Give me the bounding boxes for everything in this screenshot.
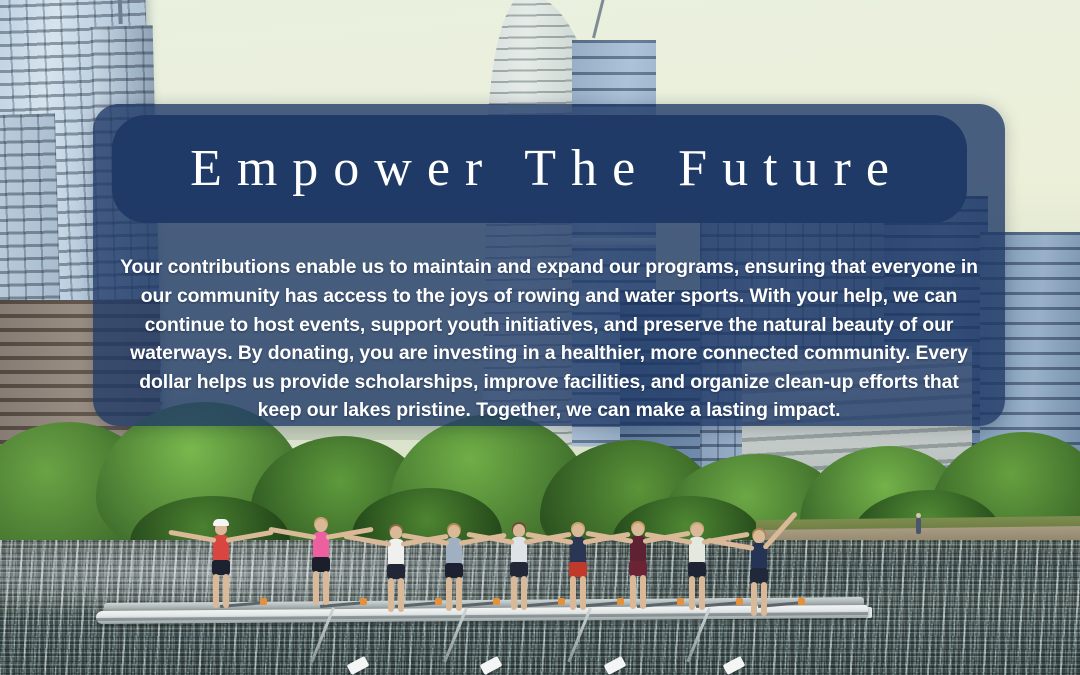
oarlock (435, 598, 442, 605)
rower-figure (748, 530, 770, 612)
title-banner: Empower The Future (112, 115, 967, 223)
rower-cap (213, 519, 229, 526)
oarlock (617, 598, 624, 605)
oarlock (798, 598, 805, 605)
page-title: Empower The Future (175, 143, 904, 195)
rower-figure (310, 519, 332, 612)
oarlock (493, 598, 500, 605)
rower-figure (443, 525, 465, 612)
oar-blade (480, 656, 503, 675)
oar-blade (723, 656, 746, 675)
oar-blade (347, 656, 370, 675)
oarlock (558, 598, 565, 605)
rower-figure (508, 524, 530, 612)
body-paragraph: Your contributions enable us to maintain… (115, 253, 983, 425)
oarlock (260, 598, 267, 605)
oarlock (360, 598, 367, 605)
oarlock (677, 598, 684, 605)
rower-figure (385, 526, 407, 612)
oar-blade (604, 656, 627, 675)
poster-canvas: Empower The Future Your contributions en… (0, 0, 1080, 675)
message-panel: Empower The Future Your contributions en… (93, 104, 1005, 426)
rower-figure (210, 522, 232, 612)
rower-figure (686, 524, 708, 612)
oarlock (736, 598, 743, 605)
rower-figure (567, 524, 589, 612)
